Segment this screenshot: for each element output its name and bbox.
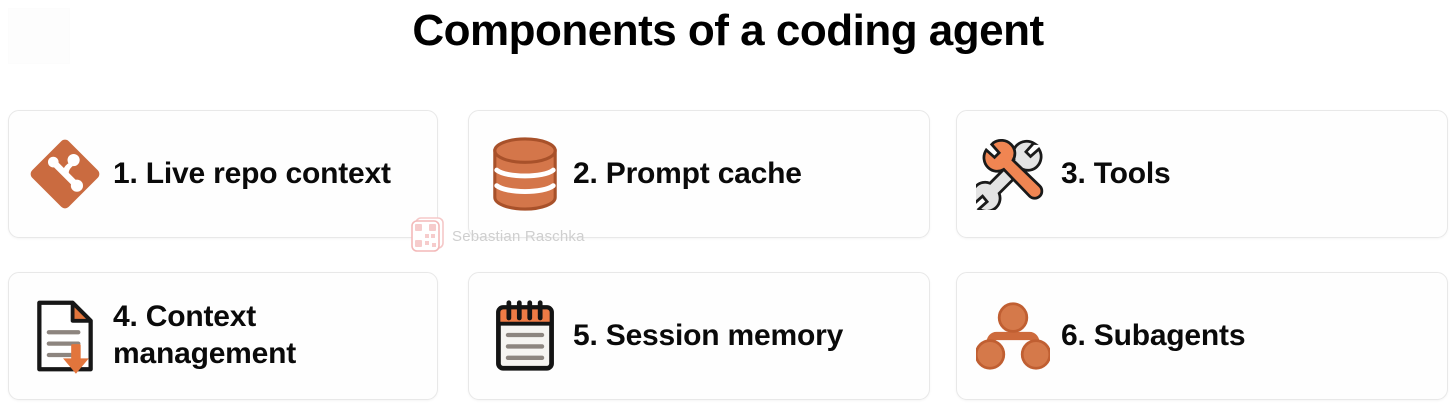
document-download-icon	[23, 294, 107, 378]
card-label: 2. Prompt cache	[573, 156, 802, 193]
card-label: 4. Context management	[113, 299, 423, 372]
page-title: Components of a coding agent	[0, 2, 1456, 60]
node-tree-icon	[971, 294, 1055, 378]
card-session-memory[interactable]: 5. Session memory	[468, 272, 930, 400]
grid-row-1: 1. Live repo context 2. Prompt cache	[0, 110, 1456, 238]
spiral-notepad-icon	[483, 294, 567, 378]
components-grid: 1. Live repo context 2. Prompt cache	[0, 110, 1456, 400]
hammer-and-wrench-icon	[971, 132, 1055, 216]
card-subagents[interactable]: 6. Subagents	[956, 272, 1448, 400]
database-icon	[483, 132, 567, 216]
card-context-management[interactable]: 4. Context management	[8, 272, 438, 400]
card-live-repo-context[interactable]: 1. Live repo context	[8, 110, 438, 238]
card-label: 5. Session memory	[573, 318, 843, 355]
git-branch-icon	[23, 132, 107, 216]
card-prompt-cache[interactable]: 2. Prompt cache	[468, 110, 930, 238]
card-label: 1. Live repo context	[113, 156, 391, 193]
card-label: 3. Tools	[1061, 156, 1171, 193]
grid-row-2: 4. Context management	[0, 272, 1456, 400]
card-label: 6. Subagents	[1061, 318, 1245, 355]
card-tools[interactable]: 3. Tools	[956, 110, 1448, 238]
